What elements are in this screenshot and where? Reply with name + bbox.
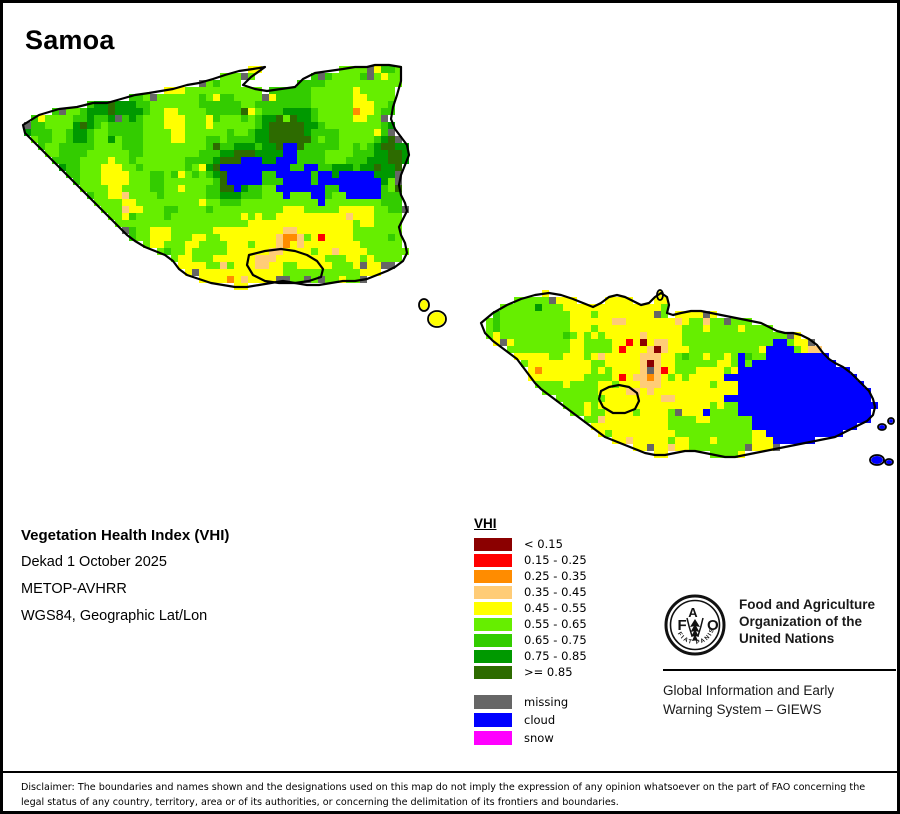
legend-class-label: 0.55 - 0.65 xyxy=(524,617,587,631)
legend-class-row[interactable]: 0.55 - 0.65 xyxy=(471,616,587,632)
giews-line-2: Warning System – GIEWS xyxy=(663,700,898,719)
map-canvas-area[interactable] xyxy=(3,3,897,503)
metadata-line-dekad: Dekad 1 October 2025 xyxy=(21,549,441,576)
legend-class-label: 0.75 - 0.85 xyxy=(524,649,587,663)
disclaimer-text: Disclaimer: The boundaries and names sho… xyxy=(21,780,871,810)
legend-status-row[interactable]: snow xyxy=(471,729,587,747)
legend-class-row[interactable]: 0.65 - 0.75 xyxy=(471,632,587,648)
legend-spacer xyxy=(471,680,587,693)
legend-status-label: snow xyxy=(524,731,554,745)
legend-class-list: < 0.150.15 - 0.250.25 - 0.350.35 - 0.450… xyxy=(471,536,587,680)
vhi-legend: VHI < 0.150.15 - 0.250.25 - 0.350.35 - 0… xyxy=(471,515,587,747)
svg-text:F: F xyxy=(678,617,687,634)
legend-class-swatch xyxy=(474,618,512,631)
giews-subtitle: Global Information and Early Warning Sys… xyxy=(663,681,898,719)
fao-name-line-2: Organization of the xyxy=(739,613,875,630)
legend-status-row[interactable]: missing xyxy=(471,693,587,711)
fao-name-line-3: United Nations xyxy=(739,630,875,647)
giews-line-1: Global Information and Early xyxy=(663,681,898,700)
legend-class-row[interactable]: 0.45 - 0.55 xyxy=(471,600,587,616)
legend-status-swatch xyxy=(474,695,512,709)
fao-divider xyxy=(663,669,896,671)
legend-class-row[interactable]: 0.75 - 0.85 xyxy=(471,648,587,664)
fao-logo-row: F A O FIAT PANIS Food and Agriculture xyxy=(663,593,898,657)
vhi-raster-layer xyxy=(3,3,897,503)
legend-status-label: missing xyxy=(524,695,568,709)
legend-status-row[interactable]: cloud xyxy=(471,711,587,729)
legend-class-label: 0.25 - 0.35 xyxy=(524,569,587,583)
metadata-line-sensor: METOP-AVHRR xyxy=(21,576,441,603)
legend-class-row[interactable]: 0.25 - 0.35 xyxy=(471,568,587,584)
metadata-line-title: Vegetation Health Index (VHI) xyxy=(21,522,441,549)
fao-name-line-1: Food and Agriculture xyxy=(739,596,875,613)
legend-class-swatch xyxy=(474,650,512,663)
legend-class-row[interactable]: >= 0.85 xyxy=(471,664,587,680)
legend-class-swatch xyxy=(474,586,512,599)
legend-class-label: 0.65 - 0.75 xyxy=(524,633,587,647)
legend-class-swatch xyxy=(474,570,512,583)
legend-class-label: >= 0.85 xyxy=(524,665,573,679)
metadata-line-projection: WGS84, Geographic Lat/Lon xyxy=(21,603,441,630)
map-page: Samoa Vegetation Health Index (VHI) Deka… xyxy=(0,0,900,814)
legend-class-row[interactable]: 0.35 - 0.45 xyxy=(471,584,587,600)
legend-title: VHI xyxy=(474,516,497,531)
fao-emblem-icon: F A O FIAT PANIS xyxy=(663,593,727,657)
legend-class-swatch xyxy=(474,554,512,567)
legend-class-swatch xyxy=(474,666,512,679)
legend-status-list: missingcloudsnow xyxy=(471,693,587,747)
legend-status-swatch xyxy=(474,731,512,745)
fao-branding: F A O FIAT PANIS Food and Agriculture xyxy=(663,593,898,719)
legend-class-label: 0.15 - 0.25 xyxy=(524,553,587,567)
legend-class-label: 0.45 - 0.55 xyxy=(524,601,587,615)
disclaimer-divider xyxy=(3,771,897,773)
fao-organization-name: Food and Agriculture Organization of the… xyxy=(739,596,875,647)
legend-class-swatch xyxy=(474,538,512,551)
legend-class-row[interactable]: 0.15 - 0.25 xyxy=(471,552,587,568)
map-metadata: Vegetation Health Index (VHI) Dekad 1 Oc… xyxy=(21,522,441,630)
legend-status-label: cloud xyxy=(524,713,555,727)
svg-text:A: A xyxy=(688,605,698,620)
legend-class-label: < 0.15 xyxy=(524,537,563,551)
legend-class-label: 0.35 - 0.45 xyxy=(524,585,587,599)
legend-class-swatch xyxy=(474,602,512,615)
legend-class-row[interactable]: < 0.15 xyxy=(471,536,587,552)
legend-status-swatch xyxy=(474,713,512,727)
legend-class-swatch xyxy=(474,634,512,647)
